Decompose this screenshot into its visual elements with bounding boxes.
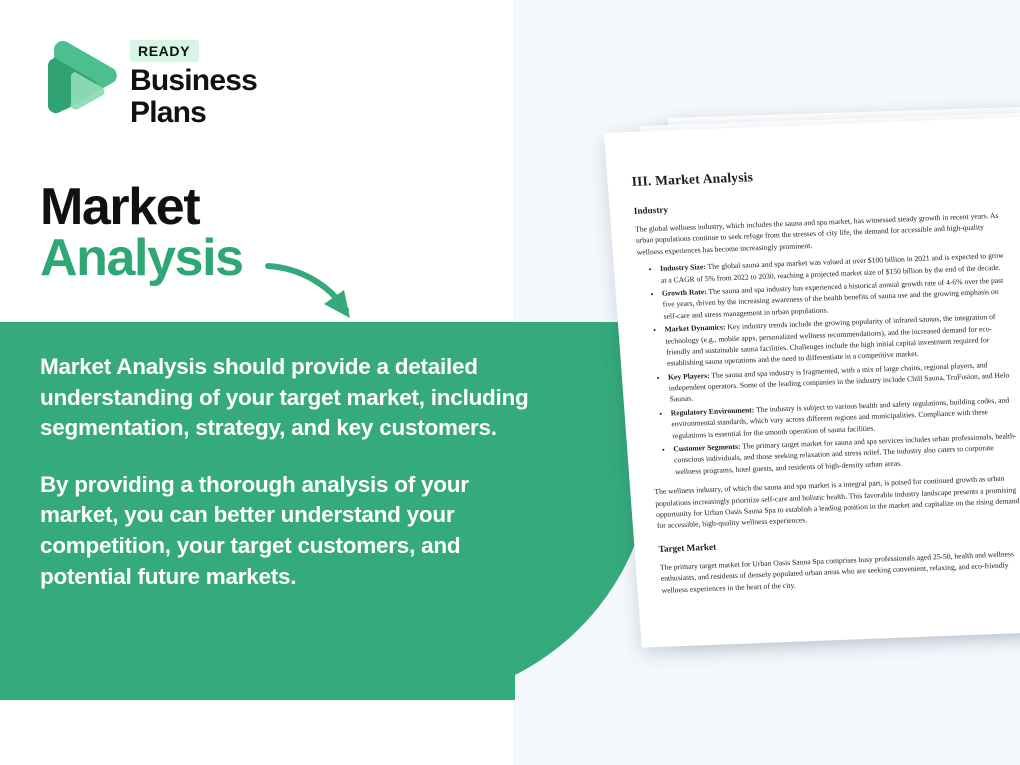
bullet-label: Market Dynamics:	[664, 322, 726, 333]
document-stack: growth ent. 21 and size rate of s of una…	[0, 0, 1020, 765]
bullet-label: Regulatory Environment:	[670, 405, 754, 417]
document-closing-paragraph: The wellness industry, of which the saun…	[654, 472, 1020, 532]
document-bullet-list: Industry Size: The global sauna and spa …	[638, 250, 1020, 479]
slide-canvas: READY Business Plans Market Analysis Mar…	[0, 0, 1020, 765]
bullet-label: Key Players:	[668, 371, 710, 382]
bullet-label: Growth Rate:	[662, 287, 707, 298]
bullet-label: Industry Size:	[660, 262, 706, 273]
bullet-text: Key industry trends include the growing …	[665, 312, 996, 368]
document-target-market-paragraph: The primary target market for Urban Oasi…	[660, 548, 1020, 596]
document-intro-paragraph: The global wellness industry, which incl…	[635, 210, 1005, 258]
document-title: III. Market Analysis	[631, 160, 1000, 190]
document-content: III. Market Analysis Industry The global…	[604, 117, 1020, 648]
document-page-front[interactable]: III. Market Analysis Industry The global…	[604, 117, 1020, 648]
bullet-label: Customer Segments:	[673, 442, 741, 454]
